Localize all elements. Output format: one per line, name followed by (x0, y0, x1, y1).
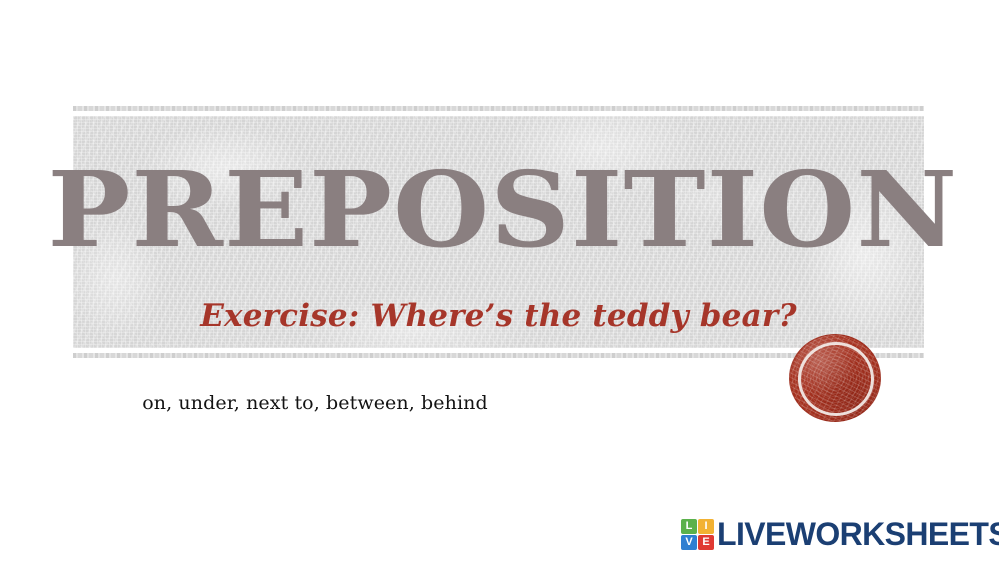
worksheet-canvas: PREPOSITION Exercise: Where’s the teddy … (0, 0, 999, 562)
logo-tiles-icon: L I V E (681, 519, 714, 550)
banner-top-rule (73, 106, 924, 111)
logo-wordmark: LIVEWORKSHEETS (717, 518, 999, 550)
red-circle-stamp-icon (789, 334, 881, 422)
title-banner: PREPOSITION Exercise: Where’s the teddy … (73, 106, 924, 358)
preposition-word-list: on, under, next to, between, behind (0, 390, 630, 416)
logo-tile-e: E (698, 535, 714, 550)
logo-tile-l: L (681, 519, 697, 534)
page-title: PREPOSITION (47, 158, 949, 262)
logo-tile-i: I (698, 519, 714, 534)
logo-tile-v: V (681, 535, 697, 550)
liveworksheets-logo: L I V E LIVEWORKSHEETS (681, 514, 999, 554)
exercise-subtitle: Exercise: Where’s the teddy bear? (73, 298, 924, 334)
